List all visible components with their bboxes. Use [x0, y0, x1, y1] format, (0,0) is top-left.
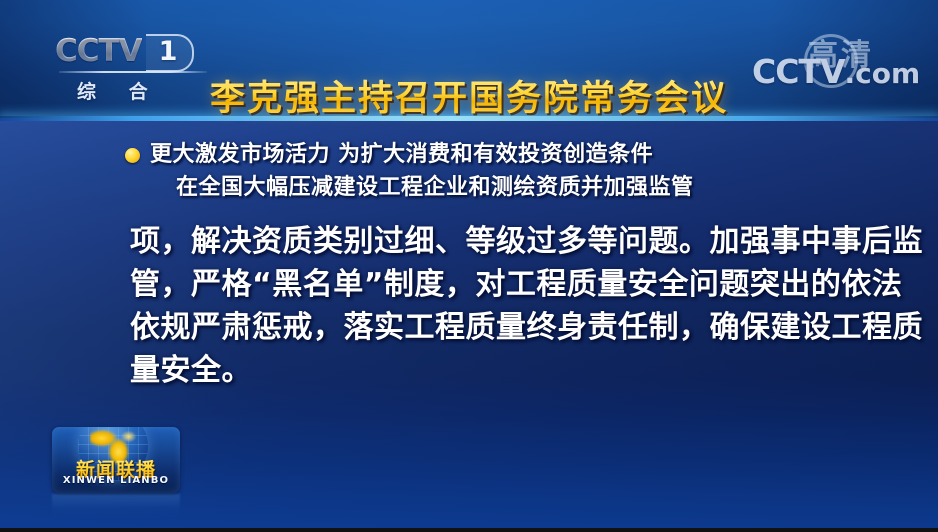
- subtitle-block: 更大激发市场活力 为扩大消费和有效投资创造条件 在全国大幅压减建设工程企业和测绘…: [150, 138, 910, 204]
- body-line: 管，严格“黑名单”制度，对工程质量安全问题突出的依法: [130, 263, 830, 306]
- subtitle-line-2: 在全国大幅压减建设工程企业和测绘资质并加强监管: [176, 171, 910, 204]
- body-line: 量安全。: [130, 349, 830, 392]
- bottom-letterbox-bar: [0, 528, 938, 532]
- body-paragraph: 项，解决资质类别过细、等级过多等问题。加强事中事后监 管，严格“黑名单”制度，对…: [130, 220, 830, 392]
- cctv1-number-badge: 1: [146, 34, 192, 68]
- program-logo-xinwen-lianbo: 新闻联播 XINWEN LIANBO: [52, 427, 180, 493]
- broadcast-screen: CCTV 1 综 合 高清 CCTV.com 李克强主持召开国务院常务会议 更大…: [0, 0, 938, 532]
- body-line: 依规严肃惩戒，落实工程质量终身责任制，确保建设工程质: [130, 306, 830, 349]
- subtitle-line-1: 更大激发市场活力 为扩大消费和有效投资创造条件: [150, 138, 910, 171]
- cctv-wordmark: CCTV: [55, 33, 142, 69]
- bullet-dot-icon: [125, 148, 140, 163]
- cctv1-number: 1: [159, 36, 178, 67]
- program-logo-reflection: [52, 494, 180, 520]
- page-title: 李克强主持召开国务院常务会议: [0, 70, 938, 121]
- program-name-en: XINWEN LIANBO: [63, 475, 169, 486]
- cctv1-logo-row: CCTV 1: [55, 32, 235, 70]
- body-line: 项，解决资质类别过细、等级过多等问题。加强事中事后监: [130, 220, 830, 263]
